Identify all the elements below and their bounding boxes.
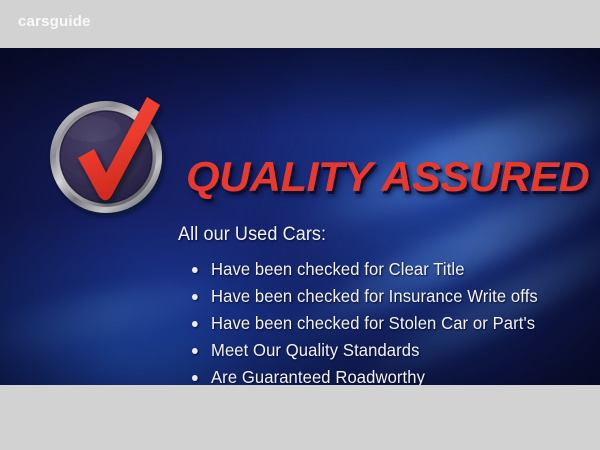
check-mark-badge-icon xyxy=(44,95,168,219)
copy-lead-text: All our Used Cars: xyxy=(178,224,536,246)
bullet-dot-icon xyxy=(192,348,198,354)
page-title: QUALITY ASSURED xyxy=(186,155,589,199)
list-item: Meet Our Quality Standards xyxy=(211,337,538,364)
banner-copy: All our Used Cars: Have been checked for… xyxy=(178,224,555,385)
list-item-label: Have been checked for Clear Title xyxy=(211,259,465,279)
list-item: Have been checked for Insurance Write of… xyxy=(211,283,538,310)
carsguide-watermark: carsguide xyxy=(18,13,91,30)
list-item-label: Are Guaranteed Roadworthy xyxy=(211,367,425,385)
bullet-dot-icon xyxy=(192,375,198,381)
bullet-dot-icon xyxy=(192,267,198,273)
list-item-label: Have been checked for Stolen Car or Part… xyxy=(211,313,535,333)
screenshot-canvas: carsguide xyxy=(0,0,600,450)
list-item: Have been checked for Stolen Car or Part… xyxy=(211,310,538,337)
list-item-label: Meet Our Quality Standards xyxy=(211,340,420,360)
quality-assured-banner: QUALITY ASSURED All our Used Cars: Have … xyxy=(0,48,600,385)
bullet-dot-icon xyxy=(192,294,198,300)
list-item-label: Have been checked for Insurance Write of… xyxy=(211,286,538,306)
bullet-dot-icon xyxy=(192,321,198,327)
quality-checklist: Have been checked for Clear Title Have b… xyxy=(178,256,555,385)
list-item: Are Guaranteed Roadworthy xyxy=(211,364,538,385)
list-item: Have been checked for Clear Title xyxy=(211,256,538,283)
